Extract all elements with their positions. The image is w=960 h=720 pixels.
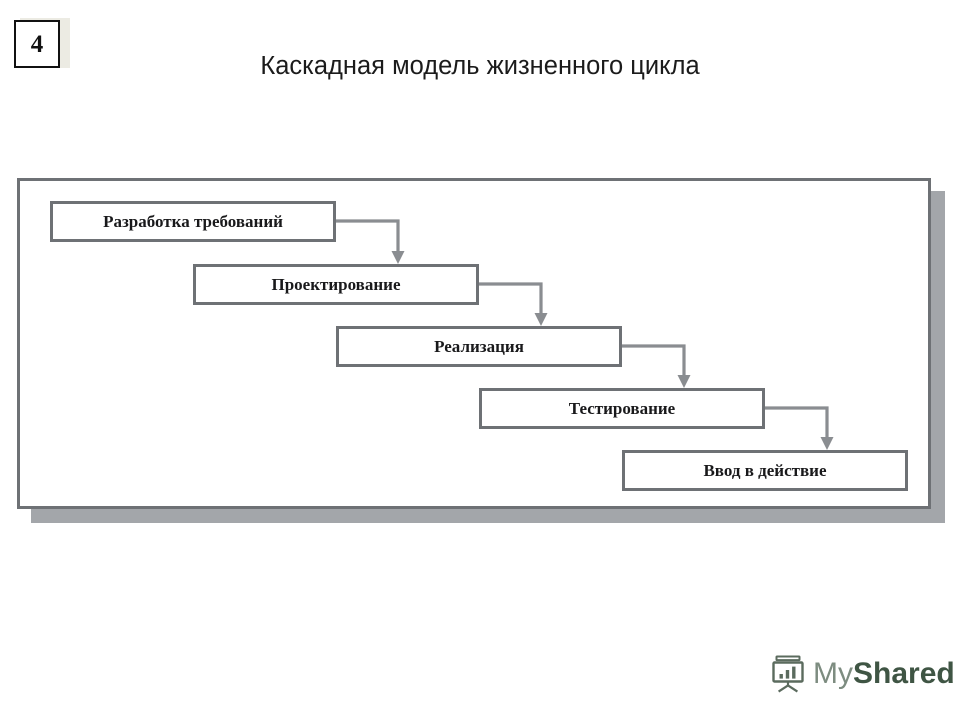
stage-box-deployment[interactable]: Ввод в действие [622,450,908,491]
watermark-text-light: My [813,657,853,690]
page-title: Каскадная модель жизненного цикла [0,52,960,81]
slide-canvas: 4 Каскадная модель жизненного цикла Разр… [0,0,960,720]
stage-box-requirements[interactable]: Разработка требований [50,201,336,242]
stage-box-testing[interactable]: Тестирование [479,388,765,429]
connector-implementation-to-testing [622,346,691,388]
diagram-frame: Разработка требованийПроектированиеРеали… [17,178,931,509]
connector-requirements-to-design [336,221,405,264]
connector-testing-to-deployment [765,408,834,450]
presentation-chart-icon [770,655,806,693]
myshared-wordmark: MyShared [813,659,955,689]
arrowhead-icon [535,313,548,326]
watermark-text-bold: Shared [853,657,955,690]
connector-design-to-implementation [479,284,548,326]
stage-label-implementation: Реализация [434,338,524,355]
stage-label-deployment: Ввод в действие [703,462,826,479]
arrowhead-icon [392,251,405,264]
arrowhead-icon [678,375,691,388]
stage-box-design[interactable]: Проектирование [193,264,479,305]
stage-box-implementation[interactable]: Реализация [336,326,622,367]
stage-label-design: Проектирование [271,276,400,293]
waterfall-diagram: Разработка требованийПроектированиеРеали… [20,181,928,506]
arrowhead-icon [821,437,834,450]
stage-label-requirements: Разработка требований [103,213,283,230]
stage-label-testing: Тестирование [569,400,675,417]
myshared-watermark: MyShared [770,655,955,693]
